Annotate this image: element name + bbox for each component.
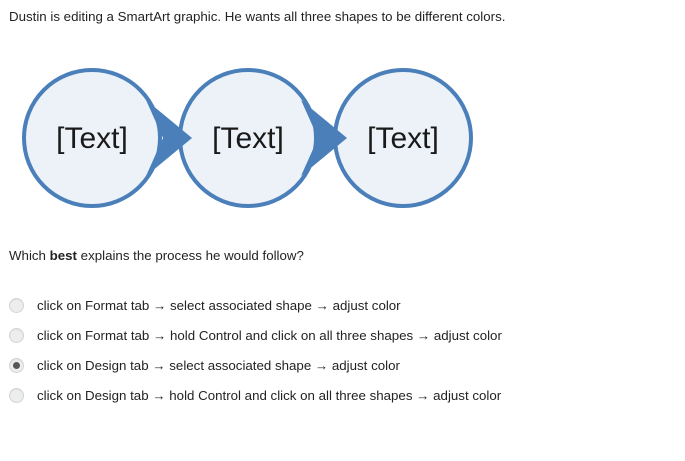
smartart-node-label-1: [Text] — [56, 122, 128, 155]
answer-option-2-label: click on Format tab → hold Control and c… — [37, 327, 502, 344]
radio-button-4[interactable] — [9, 388, 24, 403]
question-text: Which best explains the process he would… — [9, 247, 304, 264]
smartart-node-label-2: [Text] — [212, 122, 284, 155]
answer-option-1-label: click on Format tab → select associated … — [37, 297, 401, 314]
answer-option-3-label: click on Design tab → select associated … — [37, 357, 400, 374]
radio-button-2[interactable] — [9, 328, 24, 343]
smartart-node-label-3: [Text] — [367, 122, 439, 155]
answer-option-1[interactable]: click on Format tab → select associated … — [9, 290, 679, 320]
answer-option-3[interactable]: click on Design tab → select associated … — [9, 350, 679, 380]
radio-button-1[interactable] — [9, 298, 24, 313]
smartart-graphic: [Text] [Text] [Text] — [0, 55, 500, 220]
radio-button-3[interactable] — [9, 358, 24, 373]
prompt-text: Dustin is editing a SmartArt graphic. He… — [9, 8, 679, 25]
question-prefix: Which — [9, 248, 50, 263]
answer-options-group: click on Format tab → select associated … — [9, 290, 679, 410]
answer-option-4-label: click on Design tab → hold Control and c… — [37, 387, 501, 404]
answer-option-4[interactable]: click on Design tab → hold Control and c… — [9, 380, 679, 410]
answer-option-2[interactable]: click on Format tab → hold Control and c… — [9, 320, 679, 350]
question-emphasis: best — [50, 248, 77, 263]
question-suffix: explains the process he would follow? — [77, 248, 304, 263]
